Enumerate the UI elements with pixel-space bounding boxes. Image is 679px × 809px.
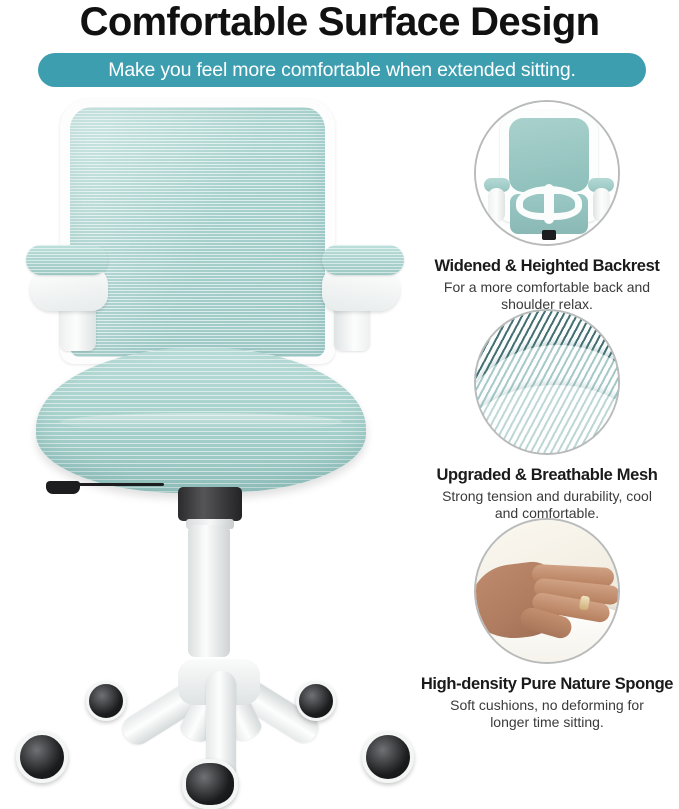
main-product-image: [0, 95, 430, 726]
thumb-armrest-left: [482, 178, 512, 224]
feature-title: High-density Pure Nature Sponge: [415, 675, 679, 694]
armrest-left: [8, 243, 116, 348]
feature-title: Upgraded & Breathable Mesh: [415, 466, 679, 485]
gas-cylinder-collar: [178, 487, 242, 521]
caster-wheel: [86, 681, 126, 721]
sponge-thumbnail: [474, 518, 620, 664]
feature-item-backrest: Widened & Heighted Backrest For a more c…: [415, 100, 679, 313]
page-title: Comfortable Surface Design: [0, 0, 679, 46]
caster-wheel: [182, 759, 238, 809]
feature-description: Strong tension and durability, cool and …: [415, 488, 679, 522]
lever-bar: [72, 483, 164, 486]
feature-title: Widened & Heighted Backrest: [415, 257, 679, 276]
thumb-armrest-right: [586, 178, 616, 224]
backrest-thumbnail: [474, 100, 620, 246]
feature-description: For a more comfortable back and shoulder…: [415, 279, 679, 313]
thumb-armrest-stem: [488, 188, 505, 222]
thumb-backrest-spine: [544, 184, 554, 224]
subtitle-banner-text: Make you feel more comfortable when exte…: [108, 59, 575, 82]
subtitle-banner: Make you feel more comfortable when exte…: [38, 53, 646, 87]
feature-item-mesh: Upgraded & Breathable Mesh Strong tensio…: [415, 309, 679, 522]
thumb-backrest-mesh: [509, 118, 589, 192]
thumb-armrest-stem: [593, 188, 610, 222]
seat-seam: [60, 413, 342, 431]
mesh-thumbnail: [474, 309, 620, 455]
height-adjustment-lever: [46, 481, 164, 489]
five-star-base: [10, 635, 420, 805]
caster-wheel: [296, 681, 336, 721]
armrest-right: [314, 243, 422, 348]
caster-wheel: [362, 731, 414, 783]
infographic-page: Comfortable Surface Design Make you feel…: [0, 0, 679, 726]
caster-wheel: [16, 731, 68, 783]
lever-knob: [46, 481, 80, 494]
armrest-pad-right: [322, 245, 404, 275]
feature-list: Widened & Heighted Backrest For a more c…: [415, 100, 679, 726]
thumb-backrest-mount: [542, 230, 556, 240]
feature-item-sponge: High-density Pure Nature Sponge Soft cus…: [415, 518, 679, 731]
armrest-pad-left: [26, 245, 108, 275]
